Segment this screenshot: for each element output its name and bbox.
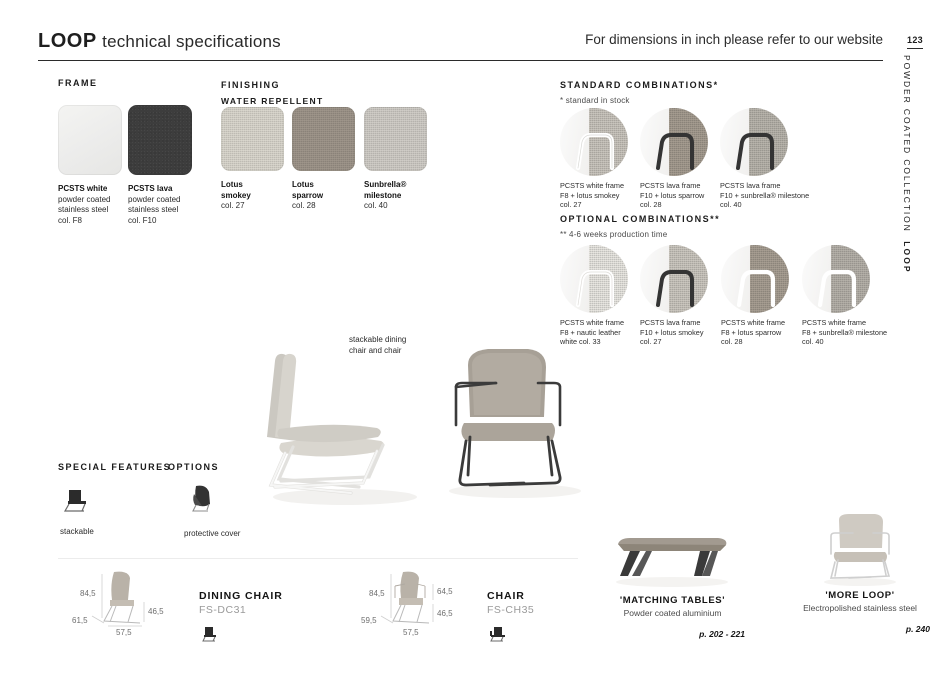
- brand-name: LOOP: [38, 30, 97, 52]
- fabric-lotus-smokey-name2: smokey: [221, 191, 251, 200]
- spine-text: POWDER COATED COLLECTION LOOP: [902, 55, 912, 274]
- fabric-swatch-lotus-sparrow-block: Lotus sparrow col. 28: [292, 107, 358, 212]
- fabric-swatch-sunbrella-milestone: [364, 107, 427, 171]
- dim-seat-height: 46,5: [148, 607, 164, 616]
- water-repellent-label: WATER REPELLENT: [221, 96, 323, 106]
- fabric-lotus-sparrow-name1: Lotus: [292, 180, 314, 189]
- fabric-swatch-lotus-smokey: [221, 107, 284, 171]
- combo-line1: PCSTS white frame: [560, 181, 624, 190]
- cross-reference-subtitle: Electropolished stainless steel: [790, 603, 930, 613]
- cross-reference-title: 'MORE LOOP': [790, 590, 930, 601]
- stacked-dining-chairs-photo: [245, 325, 435, 510]
- special-feature-stackable: stackable: [60, 486, 94, 538]
- fabric-lotus-smokey-name1: Lotus: [221, 180, 243, 189]
- frame-swatch-lava-desc1: powder coated: [128, 195, 180, 204]
- fabric-lotus-sparrow-col: col. 28: [292, 201, 316, 210]
- frame-swatch-white-name: PCSTS white: [58, 184, 107, 193]
- combo-line3: col. 27: [640, 337, 662, 346]
- hero-caption: stackable dining chair and chair: [349, 334, 406, 356]
- combo-line2: F8 + sunbrella® milestone: [802, 328, 887, 337]
- combo-line2: F10 + lotus smokey: [640, 328, 703, 337]
- frame-swatch-lava-col: col. F10: [128, 216, 156, 225]
- product-chair: 84,5 64,5 46,5 59,5 57,5: [345, 566, 475, 643]
- lower-divider: [58, 558, 578, 559]
- standard-combination-item: PCSTS lava frame F10 + sunbrella® milest…: [720, 108, 820, 210]
- frame-swatch-white: [58, 105, 122, 175]
- dim-width-label: 57,5: [116, 628, 132, 637]
- chair-icon: [487, 625, 509, 643]
- fabric-swatch-sunbrella-milestone-block: Sunbrella® milestone col. 40: [364, 107, 434, 212]
- frame-swatch-white-col: col. F8: [58, 216, 82, 225]
- finishing-section-label: FINISHING: [221, 80, 280, 90]
- optional-combinations-note: ** 4-6 weeks production time: [560, 230, 667, 239]
- cross-reference-matching-tables[interactable]: 'MATCHING TABLES' Powder coated aluminiu…: [600, 518, 745, 639]
- cross-reference-page[interactable]: p. 202 - 221: [600, 629, 745, 639]
- chair-leg-outline-icon: [721, 245, 789, 313]
- stackable-chair-icon: [60, 486, 94, 514]
- armchair-photo: [805, 510, 915, 590]
- frame-section-label: FRAME: [58, 78, 98, 88]
- product-dining-chair: 84,5 46,5 61,5 57,5 57,5: [58, 566, 188, 643]
- option-protective-cover: protective cover: [184, 482, 240, 540]
- options-label: OPTIONS: [168, 462, 219, 472]
- optional-combination-item: PCSTS white frame F8 + lotus sparrow col…: [721, 245, 807, 347]
- combo-line1: PCSTS white frame: [802, 318, 866, 327]
- page-number: 123: [907, 35, 923, 49]
- dining-chair-icon: [199, 625, 221, 643]
- chair-dimension-drawing: 84,5 64,5 46,5 59,5: [345, 566, 475, 628]
- chair-leg-outline-icon: [720, 108, 788, 176]
- frame-swatch-lava-block: PCSTS lava powder coated stainless steel…: [128, 105, 194, 226]
- combo-line3: col. 28: [640, 200, 662, 209]
- special-features-label: SPECIAL FEATURES: [58, 462, 171, 472]
- combination-swatch-circle: [640, 108, 708, 176]
- dim-height: 84,5: [369, 589, 385, 598]
- fabric-swatch-lotus-smokey-block: Lotus smokey col. 27: [221, 107, 287, 212]
- optional-combinations-label: OPTIONAL COMBINATIONS**: [560, 214, 720, 224]
- fabric-sunbrella-name2: milestone: [364, 191, 401, 200]
- page-header: LOOP technical specifications For dimens…: [38, 30, 883, 53]
- combo-line2: F10 + lotus sparrow: [640, 191, 704, 200]
- option-name: protective cover: [184, 529, 240, 540]
- page-spine: 123 POWDER COATED COLLECTION LOOP: [902, 30, 928, 274]
- chair-leg-outline-icon: [802, 245, 870, 313]
- fabric-sunbrella-col: col. 40: [364, 201, 388, 210]
- product-code: FS-DC31: [199, 604, 283, 616]
- combo-line1: PCSTS lava frame: [640, 181, 700, 190]
- cross-reference-more-loop[interactable]: 'MORE LOOP' Electropolished stainless st…: [790, 510, 930, 634]
- fabric-lotus-sparrow-name2: sparrow: [292, 191, 323, 200]
- combo-line3: col. 27: [560, 200, 582, 209]
- frame-swatch-white-desc2: stainless steel: [58, 205, 108, 214]
- combo-line2: F10 + sunbrella® milestone: [720, 191, 809, 200]
- dim-depth: 61,5: [72, 616, 88, 625]
- combo-line3: col. 40: [802, 337, 824, 346]
- combination-swatch-circle: [721, 245, 789, 313]
- dim-depth: 59,5: [361, 616, 377, 625]
- dim-seat-height: 46,5: [437, 609, 453, 618]
- standard-combination-item: PCSTS white frame F8 + lotus smokey col.…: [560, 108, 646, 210]
- product-code: FS-CH35: [487, 604, 534, 616]
- frame-swatch-white-desc1: powder coated: [58, 195, 110, 204]
- cross-reference-subtitle: Powder coated aluminium: [600, 608, 745, 618]
- special-feature-name: stackable: [60, 527, 94, 538]
- frame-swatch-lava-name: PCSTS lava: [128, 184, 172, 193]
- combo-line1: PCSTS white frame: [721, 318, 785, 327]
- combo-line2: F8 + lotus smokey: [560, 191, 619, 200]
- combination-swatch-circle: [560, 108, 628, 176]
- fabric-swatch-lotus-sparrow: [292, 107, 355, 171]
- combo-line1: PCSTS lava frame: [640, 318, 700, 327]
- optional-combination-item: PCSTS lava frame F10 + lotus smokey col.…: [640, 245, 726, 347]
- cross-reference-title: 'MATCHING TABLES': [600, 595, 745, 606]
- frame-swatch-white-block: PCSTS white powder coated stainless stee…: [58, 105, 124, 226]
- combo-line1: PCSTS lava frame: [720, 181, 780, 190]
- dim-width: 57,5: [403, 628, 419, 637]
- standard-combinations-label: STANDARD COMBINATIONS*: [560, 80, 719, 90]
- catalog-page: LOOP technical specifications For dimens…: [0, 0, 936, 677]
- combination-swatch-circle: [560, 245, 628, 313]
- product-dining-chair-info: DINING CHAIR FS-DC31: [199, 590, 283, 648]
- dim-height: 84,5: [80, 589, 96, 598]
- optional-combination-item: PCSTS white frame F8 + sunbrella® milest…: [802, 245, 906, 347]
- combination-swatch-circle: [640, 245, 708, 313]
- combination-swatch-circle: [720, 108, 788, 176]
- product-chair-info: CHAIR FS-CH35: [487, 590, 534, 648]
- frame-swatch-lava-desc2: stainless steel: [128, 205, 178, 214]
- header-note: For dimensions in inch please refer to o…: [585, 32, 883, 47]
- loop-armchair-photo: [420, 325, 610, 510]
- cross-reference-page[interactable]: p. 240: [790, 624, 930, 634]
- dining-chair-dimension-drawing: 84,5 46,5 61,5 57,5: [58, 566, 188, 628]
- chair-leg-outline-icon: [640, 108, 708, 176]
- product-name: CHAIR: [487, 590, 534, 602]
- chair-leg-outline-icon: [640, 245, 708, 313]
- frame-swatch-lava: [128, 105, 192, 175]
- combo-line3: col. 28: [721, 337, 743, 346]
- standard-combination-item: PCSTS lava frame F10 + lotus sparrow col…: [640, 108, 726, 210]
- combo-line2: F8 + lotus sparrow: [721, 328, 781, 337]
- product-name: DINING CHAIR: [199, 590, 283, 602]
- fabric-lotus-smokey-col: col. 27: [221, 201, 245, 210]
- fabric-sunbrella-name1: Sunbrella®: [364, 180, 406, 189]
- chair-leg-outline-icon: [560, 245, 628, 313]
- page-subtitle: technical specifications: [102, 32, 281, 51]
- standard-combinations-note: * standard in stock: [560, 96, 630, 105]
- combo-line3: col. 40: [720, 200, 742, 209]
- protective-cover-icon: [184, 482, 218, 514]
- spine-collection: POWDER COATED COLLECTION: [902, 55, 912, 233]
- dim-arm-height: 64,5: [437, 587, 453, 596]
- combination-swatch-circle: [802, 245, 870, 313]
- chair-leg-outline-icon: [560, 108, 628, 176]
- table-photo: [600, 518, 745, 590]
- hero-caption-line2: chair and chair: [349, 346, 401, 355]
- hero-caption-line1: stackable dining: [349, 335, 406, 344]
- header-divider: [38, 60, 883, 61]
